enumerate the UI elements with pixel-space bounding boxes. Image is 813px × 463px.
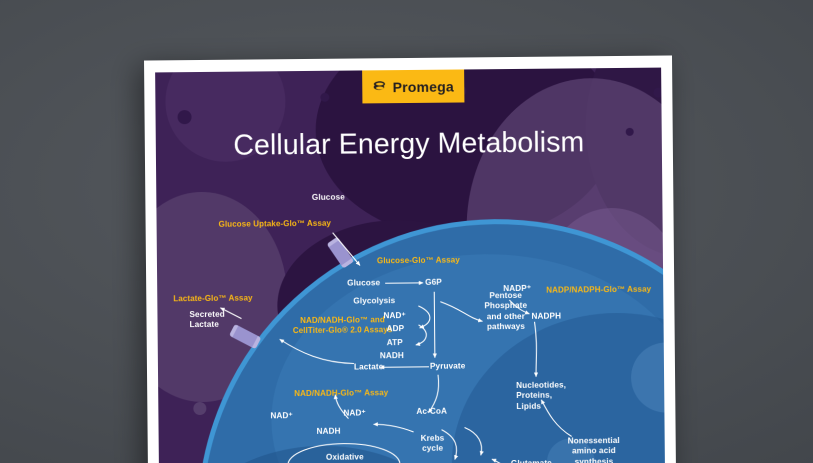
label-secreted-lactate: Secreted Lactate <box>189 310 225 331</box>
label-nadh-mito: NADH <box>317 427 341 437</box>
label-nad-plus-mito-left: NAD⁺ <box>270 411 293 421</box>
label-pentose-phosphate: Pentose Phosphate and other pathways <box>484 291 527 332</box>
label-lactate: Lactate <box>354 362 383 373</box>
label-krebs-cycle: Krebs cycle <box>421 434 445 455</box>
label-glucose-intracellular: Glucose <box>347 278 380 289</box>
poster-paper-border: Promega Cellular Energy Metabolism Gluco… <box>144 55 676 463</box>
label-nonessential-amino-acid-synthesis: Nonessential amino acid synthesis <box>568 436 620 463</box>
assay-nadp-nadph-glo: NADP/NADPH-Glo™ Assay <box>546 285 651 296</box>
label-ac-coa: Ac-CoA <box>416 407 447 418</box>
label-g6p: G6P <box>425 278 442 288</box>
poster-sheet[interactable]: Promega Cellular Energy Metabolism Gluco… <box>144 55 676 463</box>
label-glutamate: Glutamate <box>511 459 552 463</box>
label-adp: ADP <box>387 324 405 334</box>
assay-nad-nadh-glo-celltiter: NAD/NADH-Glo™ and CellTiter-Glo® 2.0 Ass… <box>293 315 393 337</box>
assay-lactate-glo: Lactate-Glo™ Assay <box>173 294 252 305</box>
label-nad-plus-glycolysis: NAD⁺ <box>383 311 406 321</box>
label-nadph: NADPH <box>531 312 561 323</box>
label-nadp-plus: NADP⁺ <box>503 284 531 295</box>
label-nad-plus-mito-right: NAD⁺ <box>343 408 366 418</box>
poster-artwork: Promega Cellular Energy Metabolism Gluco… <box>155 68 665 463</box>
page-title: Cellular Energy Metabolism <box>156 126 662 164</box>
label-nadh-glycolysis: NADH <box>380 351 404 361</box>
label-glucose-extracellular: Glucose <box>312 193 345 204</box>
label-pyruvate: Pyruvate <box>430 361 465 372</box>
label-atp: ATP <box>387 338 403 348</box>
promega-logo-text: Promega <box>393 78 454 95</box>
label-oxidative-phosphorylation: Oxidative phosphorylation <box>299 452 391 463</box>
label-nucleotides-proteins-lipids: Nucleotides, Proteins, Lipids <box>516 380 566 411</box>
promega-ring-logo-icon <box>373 79 388 94</box>
promega-logo-badge[interactable]: Promega <box>362 69 464 103</box>
label-glycolysis: Glycolysis <box>353 296 395 307</box>
assay-nad-nadh-glo-mito: NAD/NADH-Glo™ Assay <box>294 388 388 399</box>
assay-glucose-glo: Glucose-Glo™ Assay <box>377 256 460 267</box>
assay-glucose-uptake-glo: Glucose Uptake-Glo™ Assay <box>219 219 332 230</box>
